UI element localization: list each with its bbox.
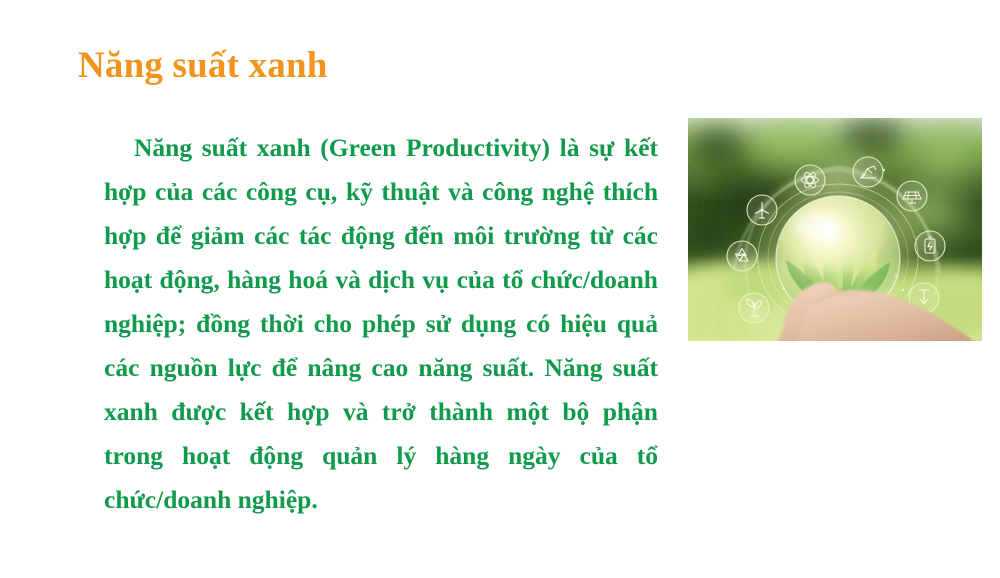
slide-canvas: Năng suất xanh Năng suất xanh (Green Pro… (0, 0, 1000, 578)
battery-icon (915, 231, 945, 261)
oil-pump-icon (853, 157, 883, 187)
atom-energy-icon (795, 165, 825, 195)
page-title: Năng suất xanh (78, 44, 328, 88)
seedling-icon (739, 293, 769, 323)
body-text-block: Năng suất xanh (Green Productivity) là s… (104, 126, 658, 522)
body-paragraph: Năng suất xanh (Green Productivity) là s… (104, 126, 658, 522)
eco-globe-photo (688, 118, 982, 341)
eco-globe-illustration (688, 118, 982, 341)
recycle-icon (727, 241, 757, 271)
solar-panel-icon (897, 181, 927, 211)
wind-turbine-icon (747, 195, 777, 225)
